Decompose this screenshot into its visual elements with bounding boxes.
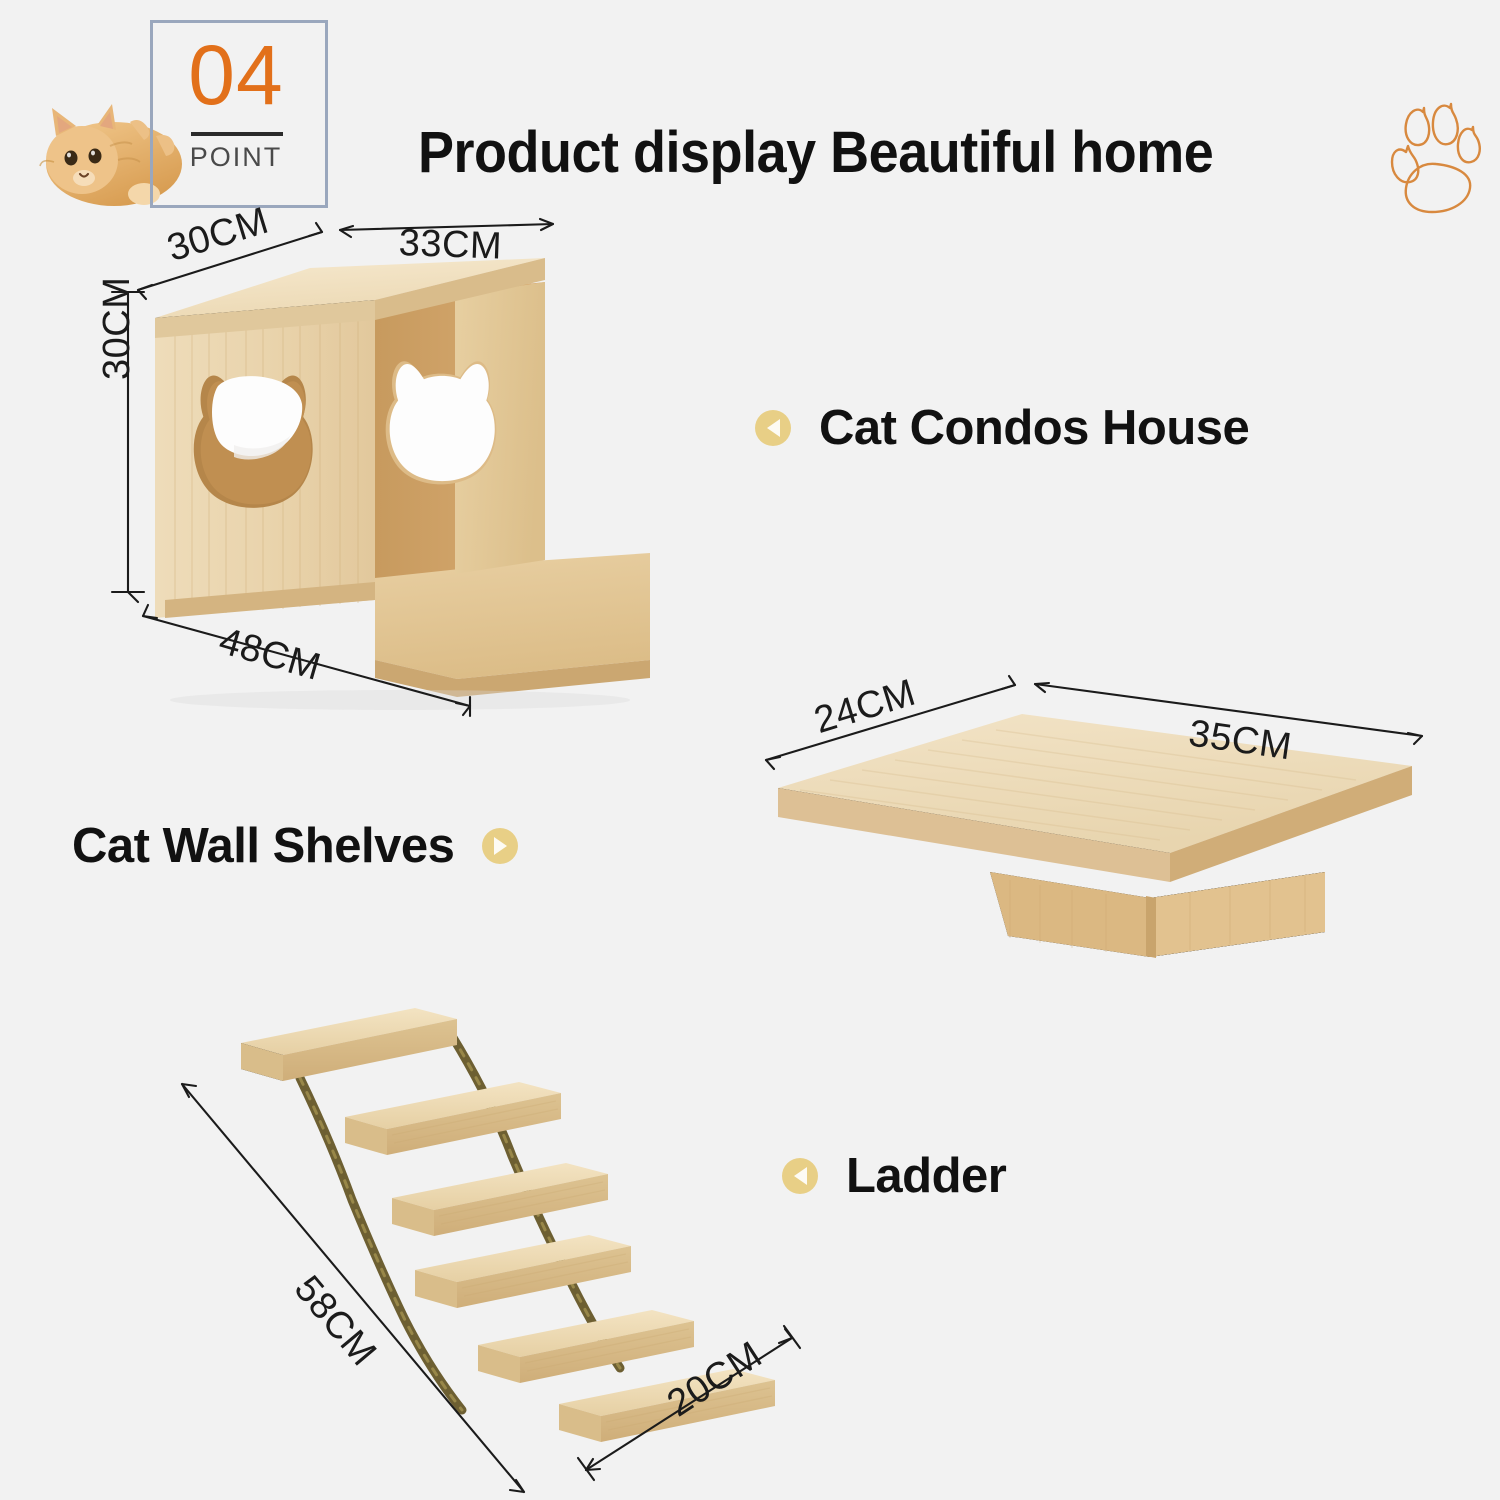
badge-divider [191,132,283,136]
badge-caption: POINT [150,142,322,173]
point-badge: 04 POINT [36,8,356,220]
triangle-right-icon [482,828,518,864]
ladder-illustration [182,1008,800,1492]
ladder-step [415,1235,631,1308]
dimension-label-condo-length: 48CM [214,620,325,690]
product-label-text: Cat Condos House [819,400,1249,456]
dimension-label-ladder-length: 58CM [285,1268,384,1375]
product-label-text: Ladder [846,1148,1006,1204]
dimension-label-condo-width: 33CM [398,222,503,269]
paw-print-icon [1392,104,1480,212]
page-title: Product display Beautiful home [418,119,1213,186]
ladder-step [392,1163,608,1236]
dimension-label-shelf-depth: 24CM [809,672,920,743]
badge-number: 04 [150,26,322,124]
page-root: 04 POINT Product display Beautiful home … [0,0,1500,1500]
product-label-cat-wall-shelves[interactable]: Cat Wall Shelves [72,818,518,874]
triangle-left-icon [755,410,791,446]
ladder-step [241,1008,457,1081]
triangle-left-icon [782,1158,818,1194]
cat-condos-house-illustration [112,219,650,716]
dimension-label-condo-height: 30CM [96,277,139,380]
ladder-step [478,1310,694,1383]
ladder-step [345,1082,561,1155]
product-label-ladder[interactable]: Ladder [782,1148,1006,1204]
product-label-text: Cat Wall Shelves [72,818,454,874]
product-label-cat-condos-house[interactable]: Cat Condos House [755,400,1249,456]
dimension-label-shelf-width: 35CM [1186,712,1294,769]
dimension-label-ladder-step-width: 20CM [660,1334,770,1426]
